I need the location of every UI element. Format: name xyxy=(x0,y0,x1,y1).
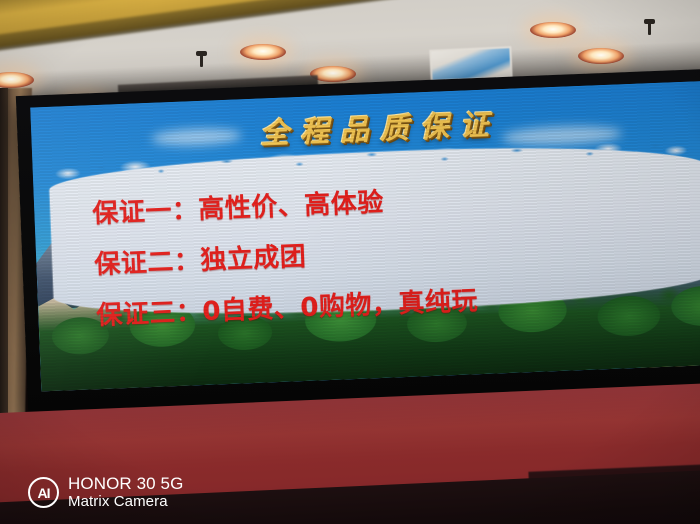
slide-line-3: 保证三：0自费、0购物，真纯玩 xyxy=(96,279,700,329)
led-display-screen: 全程品质保证 保证一：高性价、高体验 保证二：独立成团 保证三：0自费、0购物，… xyxy=(16,69,700,412)
downlight-icon xyxy=(530,22,576,38)
photograph: 全程品质保证 保证一：高性价、高体验 保证二：独立成团 保证三：0自费、0购物，… xyxy=(0,0,700,524)
downlight-icon xyxy=(240,44,286,60)
fire-sprinkler-icon xyxy=(200,54,203,67)
watermark-camera-name: Matrix Camera xyxy=(68,494,183,510)
camera-watermark: AI HONOR 30 5G Matrix Camera xyxy=(28,475,183,510)
ai-badge-icon: AI xyxy=(28,477,59,508)
watermark-device-model: HONOR 30 5G xyxy=(68,475,183,493)
fire-sprinkler-icon xyxy=(648,22,651,35)
downlight-icon xyxy=(578,48,624,64)
watermark-text: HONOR 30 5G Matrix Camera xyxy=(68,475,183,510)
slide-body: 保证一：高性价、高体验 保证二：独立成团 保证三：0自费、0购物，真纯玩 xyxy=(92,177,700,354)
left-wall-edge xyxy=(0,88,8,468)
slide-line-2: 保证二：独立成团 xyxy=(94,228,700,278)
screen-content: 全程品质保证 保证一：高性价、高体验 保证二：独立成团 保证三：0自费、0购物，… xyxy=(30,81,700,392)
